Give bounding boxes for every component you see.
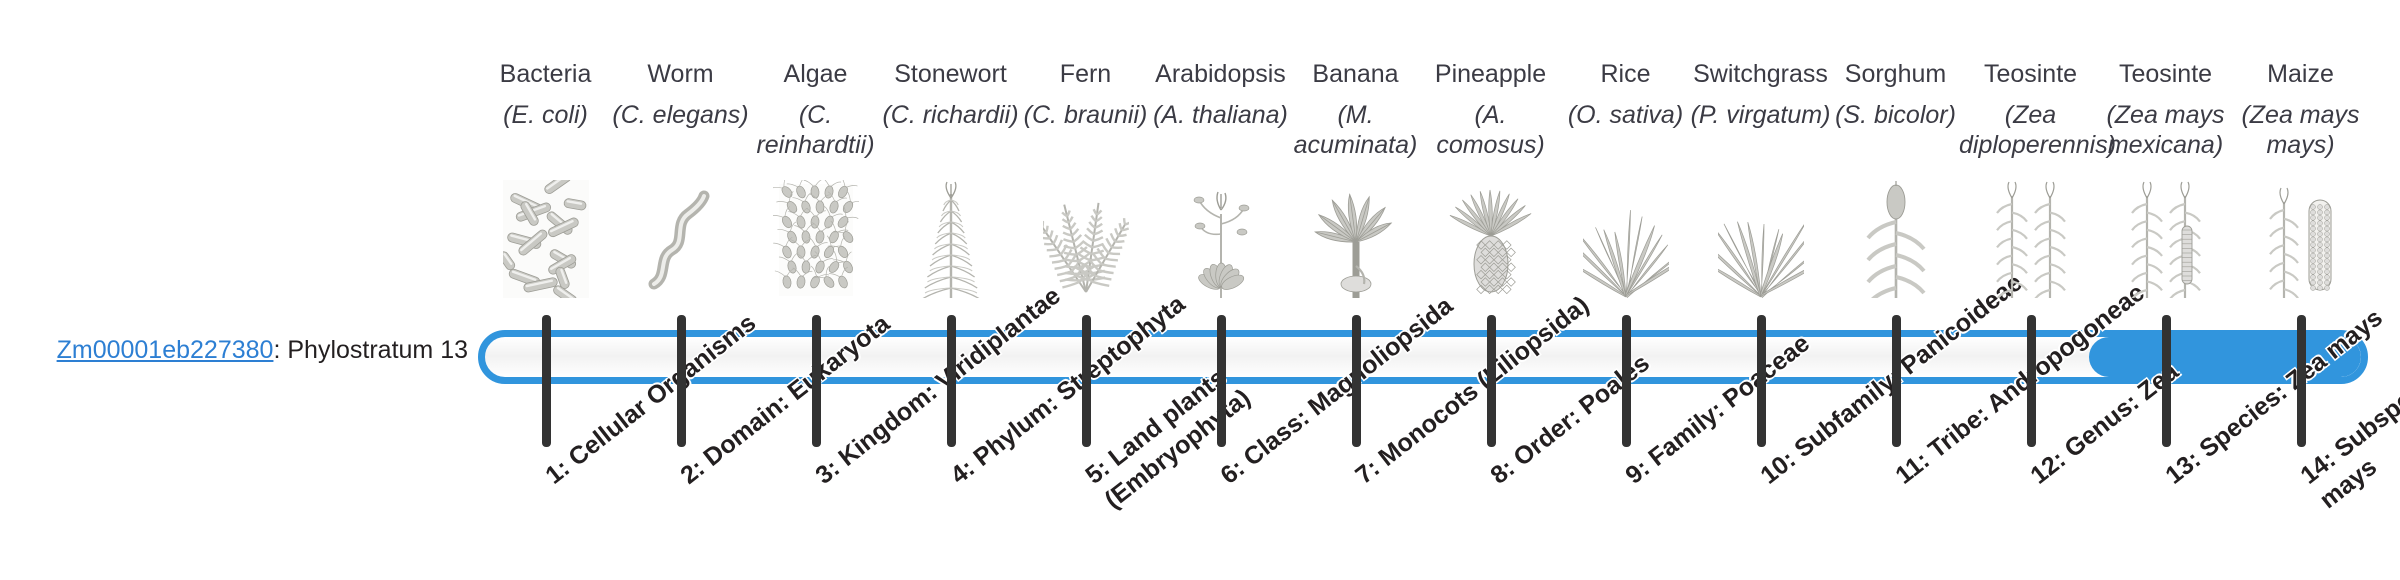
species-columns: Bacteria(E. coli)1: Cellular OrganismsWo… [478,0,2368,580]
switchgrass-icon [1693,168,1828,298]
species-common-name: Stonewort [883,60,1018,89]
species-latin-name: (M. acuminata) [1284,100,1427,160]
species-latin-name: (S. bicolor) [1824,100,1967,130]
species-common-name: Banana [1288,60,1423,89]
species-common-name: Rice [1558,60,1693,89]
species-common-name: Worm [613,60,748,89]
gene-id-link[interactable]: Zm00001eb227380 [57,336,274,364]
phylostratum-tick[interactable] [947,315,956,447]
arabidopsis-icon [1153,168,1288,298]
teosinte-mexicana-icon [2098,168,2233,298]
species-column: Teosinte(Zea mays mexicana) [2098,0,2233,580]
species-common-name: Teosinte [1963,60,2098,89]
pineapple-icon [1423,168,1558,298]
bacteria-icon [478,168,613,298]
species-latin-name: (P. virgatum) [1689,100,1832,130]
species-common-name: Bacteria [478,60,613,89]
algae-icon [748,168,883,298]
species-latin-name: (C. richardii) [879,100,1022,130]
species-latin-name: (Zea mays mexicana) [2094,100,2237,160]
species-column: Switchgrass(P. virgatum) [1693,0,1828,580]
phylostratum-tick[interactable] [1487,315,1496,447]
gene-label-separator: : [273,336,287,364]
phylostratum-tick[interactable] [677,315,686,447]
phylostratum-tick[interactable] [1082,315,1091,447]
phylostratum-tick[interactable] [1622,315,1631,447]
species-latin-name: (A. thaliana) [1149,100,1292,130]
banana-icon [1288,168,1423,298]
worm-icon [613,168,748,298]
stonewort-icon [883,168,1018,298]
maize-icon [2233,168,2368,298]
rice-icon [1558,168,1693,298]
gene-phylostratum-label: Zm00001eb227380: Phylostratum 13 [38,337,468,365]
species-latin-name: (C. elegans) [609,100,752,130]
fern-icon [1018,168,1153,298]
species-common-name: Teosinte [2098,60,2233,89]
phylostratum-tick[interactable] [1352,315,1361,447]
phylostratum-tick[interactable] [812,315,821,447]
species-column: Stonewort(C. richardii) [883,0,1018,580]
species-latin-name: (Zea diploperennis) [1959,100,2102,160]
species-common-name: Algae [748,60,883,89]
species-common-name: Fern [1018,60,1153,89]
species-common-name: Switchgrass [1693,60,1828,89]
species-column: Rice(O. sativa) [1558,0,1693,580]
species-column: Sorghum(S. bicolor) [1828,0,1963,580]
phylostratum-figure: Zm00001eb227380: Phylostratum 13 Bacteri… [0,0,2400,580]
gene-phylostratum-value: Phylostratum 13 [287,336,468,364]
species-common-name: Maize [2233,60,2368,89]
species-column: Worm(C. elegans) [613,0,748,580]
species-latin-name: (E. coli) [474,100,617,130]
phylostratum-tick[interactable] [542,315,551,447]
species-column: Banana(M. acuminata) [1288,0,1423,580]
species-common-name: Arabidopsis [1153,60,1288,89]
species-latin-name: (C. braunii) [1014,100,1157,130]
phylostratum-tick[interactable] [2027,315,2036,447]
species-latin-name: (Zea mays mays) [2229,100,2372,160]
phylostratum-tick[interactable] [1757,315,1766,447]
species-column: Pineapple(A. comosus) [1423,0,1558,580]
species-latin-name: (O. sativa) [1554,100,1697,130]
species-common-name: Pineapple [1423,60,1558,89]
phylostratum-tick[interactable] [1217,315,1226,447]
phylostratum-tick[interactable] [1892,315,1901,447]
phylostratum-tick[interactable] [2162,315,2171,447]
sorghum-icon [1828,168,1963,298]
species-latin-name: (C. reinhardtii) [744,100,887,160]
species-column: Algae(C. reinhardtii) [748,0,883,580]
teosinte-diplo-icon [1963,168,2098,298]
species-latin-name: (A. comosus) [1419,100,1562,160]
species-common-name: Sorghum [1828,60,1963,89]
species-column: Arabidopsis(A. thaliana) [1153,0,1288,580]
phylostratum-tick[interactable] [2297,315,2306,447]
species-column: Teosinte(Zea diploperennis) [1963,0,2098,580]
species-column: Bacteria(E. coli) [478,0,613,580]
